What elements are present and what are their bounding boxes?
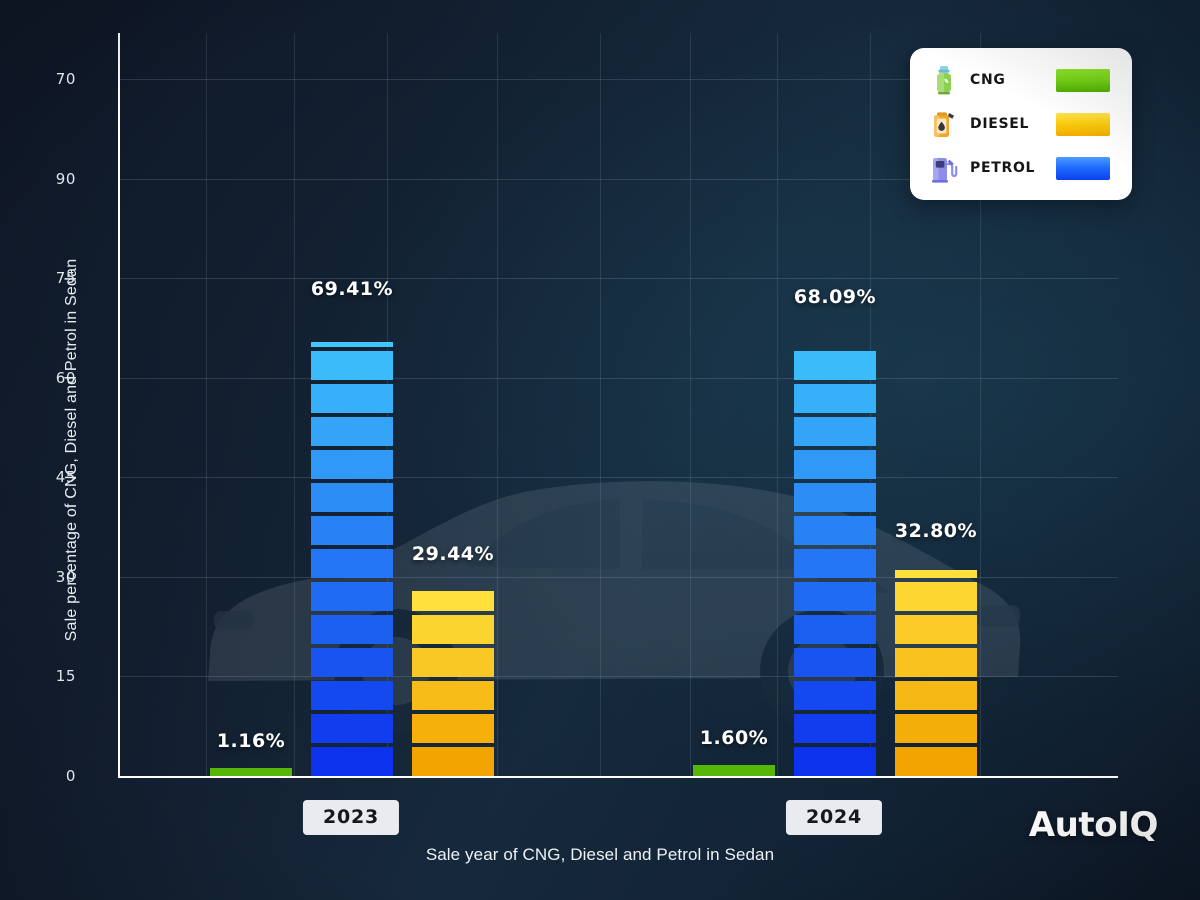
bar-segment	[210, 768, 292, 776]
legend-item-diesel[interactable]: DIESEL	[930, 109, 1110, 139]
bar-segment	[794, 615, 876, 644]
legend-swatch-diesel	[1056, 113, 1110, 136]
bar-value-label: 29.44%	[412, 543, 494, 565]
legend-item-cng[interactable]: CNG	[930, 65, 1110, 95]
bar-segment	[794, 582, 876, 611]
legend-label-diesel: DIESEL	[970, 116, 1044, 132]
y-axis-tick-label: 15	[16, 667, 76, 685]
bar-segment	[311, 747, 393, 776]
bar-segment	[895, 648, 977, 677]
legend-label-cng: CNG	[970, 72, 1044, 88]
category-chip-2023: 2023	[303, 800, 399, 835]
bar-segment	[895, 570, 977, 578]
brand-logo: AutoIQ	[1029, 805, 1158, 845]
legend-swatch-cng	[1056, 69, 1110, 92]
legend: CNG DIESEL PETRO	[910, 48, 1132, 200]
bar-segment	[895, 681, 977, 710]
bar-value-label: 32.80%	[895, 520, 977, 542]
bar-segment	[412, 648, 494, 677]
gridline-vertical	[777, 33, 778, 776]
bar-segment	[794, 747, 876, 776]
bar-segment	[311, 450, 393, 479]
bar-segment	[311, 516, 393, 545]
bar-segment	[311, 648, 393, 677]
bar-segment	[412, 681, 494, 710]
bar-segment	[311, 417, 393, 446]
bar-segment	[794, 681, 876, 710]
bar-segment	[311, 582, 393, 611]
gridline-vertical	[206, 33, 207, 776]
bar-segment	[311, 384, 393, 413]
bar-segment	[311, 714, 393, 743]
bar-segment	[895, 615, 977, 644]
bar-segment	[311, 681, 393, 710]
bar-segment	[895, 714, 977, 743]
bar-value-label: 1.16%	[217, 730, 285, 752]
bar-segment	[311, 483, 393, 512]
gridline-horizontal	[118, 477, 1118, 478]
y-axis-tick-label: 0	[16, 767, 76, 785]
bar-petrol-2023[interactable]	[311, 316, 393, 776]
bar-value-label: 68.09%	[794, 286, 876, 308]
bar-segment	[311, 549, 393, 578]
bar-value-label: 1.60%	[700, 727, 768, 749]
bar-segment	[794, 384, 876, 413]
bar-segment	[794, 417, 876, 446]
y-axis-tick-label: 90	[16, 170, 76, 188]
y-axis-tick-label: 30	[16, 568, 76, 586]
x-axis-line	[118, 776, 1118, 778]
y-axis-tick-label: 60	[16, 369, 76, 387]
bar-cng-2024[interactable]	[693, 765, 775, 776]
gridline-vertical	[497, 33, 498, 776]
y-axis-tick-label: 45	[16, 468, 76, 486]
legend-label-petrol: PETROL	[970, 160, 1044, 176]
jerrycan-icon	[930, 109, 958, 139]
y-axis-title-holder: Sale percentage of CNG, Diesel and Petro…	[46, 0, 64, 900]
fuel-pump-icon	[930, 153, 958, 183]
bar-segment	[794, 714, 876, 743]
legend-item-petrol[interactable]: PETROL	[930, 153, 1110, 183]
y-axis-tick-label: 70	[16, 70, 76, 88]
bar-diesel-2023[interactable]	[412, 581, 494, 776]
bar-cng-2023[interactable]	[210, 768, 292, 776]
bar-segment	[895, 747, 977, 776]
bar-segment	[311, 615, 393, 644]
bar-segment	[412, 747, 494, 776]
bar-segment	[794, 648, 876, 677]
bar-segment	[412, 615, 494, 644]
bar-segment	[412, 591, 494, 611]
y-axis-tick-label: 75	[16, 269, 76, 287]
bar-petrol-2024[interactable]	[794, 324, 876, 776]
bar-segment	[895, 582, 977, 611]
legend-swatch-petrol	[1056, 157, 1110, 180]
bar-segment	[794, 549, 876, 578]
gridline-horizontal	[118, 378, 1118, 379]
category-chip-2024: 2024	[786, 800, 882, 835]
bar-segment	[794, 351, 876, 380]
bar-segment	[412, 714, 494, 743]
gridline-horizontal	[118, 278, 1118, 279]
bar-segment	[794, 516, 876, 545]
chart-canvas: Sale percentage of CNG, Diesel and Petro…	[0, 0, 1200, 900]
gridline-vertical	[690, 33, 691, 776]
y-axis-line	[118, 33, 120, 778]
bar-segment	[794, 450, 876, 479]
bar-segment	[311, 351, 393, 380]
bar-segment	[311, 342, 393, 347]
gas-cylinder-icon	[930, 65, 958, 95]
bar-diesel-2024[interactable]	[895, 558, 977, 776]
x-axis-title: Sale year of CNG, Diesel and Petrol in S…	[0, 845, 1200, 865]
bar-segment	[693, 765, 775, 776]
gridline-vertical	[600, 33, 601, 776]
bar-value-label: 69.41%	[311, 278, 393, 300]
bar-segment	[794, 483, 876, 512]
gridline-vertical	[294, 33, 295, 776]
